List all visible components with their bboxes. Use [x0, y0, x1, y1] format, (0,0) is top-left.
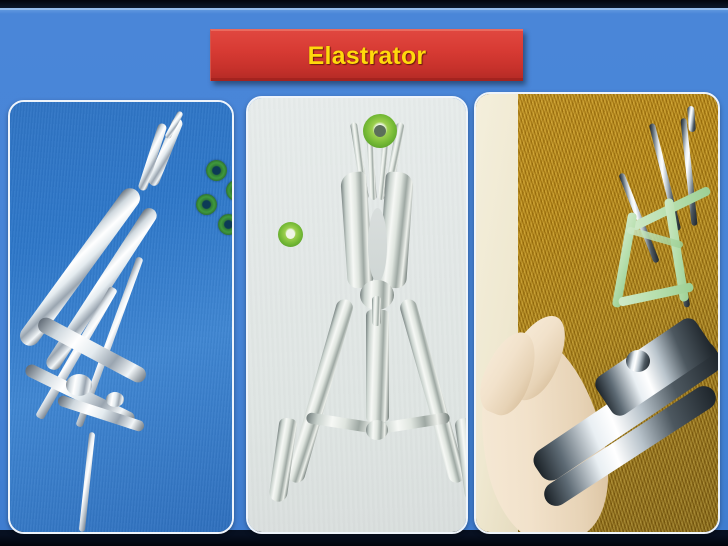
rubber-ring-on-jaws-hole [374, 125, 386, 137]
rubber-ring [206, 160, 227, 181]
image-panel-elastrator-loaded [246, 96, 468, 534]
page-title: Elastrator [308, 42, 427, 71]
rubber-ring-hole [286, 230, 295, 239]
photo-elastrator-loaded [248, 98, 466, 532]
tool-pivot-boss [66, 374, 92, 396]
rubber-ring [196, 194, 217, 215]
tool-pivot-screw [626, 350, 650, 372]
photo-elastrator-in-use [476, 94, 718, 532]
slide-background-highlight [0, 8, 728, 10]
title-banner: Elastrator [210, 29, 523, 81]
image-panel-elastrator-with-rings [8, 100, 234, 534]
tool-center-plate [366, 310, 389, 422]
title-banner-bottom-edge [211, 78, 523, 81]
photo-elastrator-with-rings [10, 102, 232, 532]
rubber-ring [218, 214, 234, 235]
image-panel-elastrator-in-use [474, 92, 720, 534]
tool-center-rod [372, 296, 381, 326]
slide: Elastrator [0, 0, 728, 546]
tool-pivot-boss-2 [106, 392, 124, 407]
tool-bottom-pivot [366, 420, 388, 440]
tool-jaw-gap [368, 208, 387, 282]
